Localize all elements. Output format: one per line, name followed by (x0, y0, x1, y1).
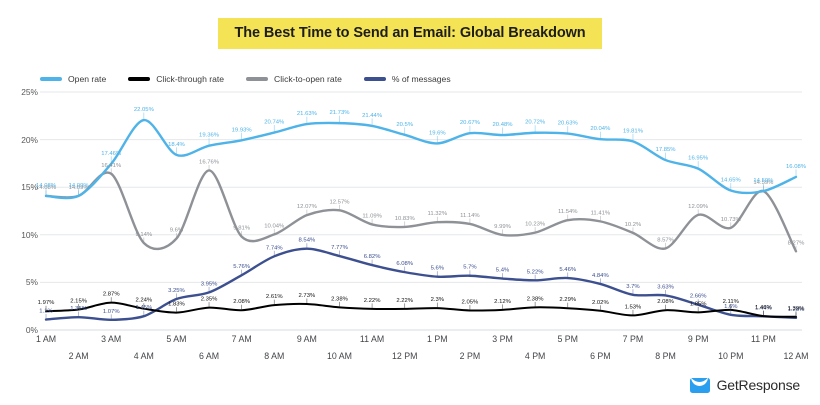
data-label: 20.5% (396, 122, 413, 128)
y-axis-labels: 0%5%10%15%20%25% (14, 92, 40, 330)
envelope-icon (690, 378, 710, 393)
data-label: 2.08% (657, 299, 674, 305)
legend-swatch-icon (128, 77, 150, 81)
data-label: 14.08% (36, 183, 57, 189)
data-label: 2.05% (462, 299, 479, 305)
data-label: 9.14% (135, 232, 152, 238)
legend-item-2[interactable]: Click-to-open rate (246, 74, 342, 84)
data-label: 5.7% (463, 265, 477, 271)
data-label: 1.39% (788, 306, 805, 312)
data-label: 20.74% (264, 120, 285, 126)
data-label: 9.6% (170, 228, 184, 234)
data-label: 19.81% (623, 128, 644, 134)
x-axis-tick-label: 9 PM (688, 334, 709, 344)
chart-legend: Open rateClick-through rateClick-to-open… (40, 74, 451, 84)
data-label: 17.46% (101, 151, 122, 157)
data-label: 22.05% (134, 107, 155, 113)
data-label: 7.74% (266, 245, 283, 251)
data-label: 5.4% (496, 268, 510, 274)
data-label: 16.08% (786, 164, 807, 170)
chart-title-container: The Best Time to Send an Email: Global B… (0, 18, 820, 49)
data-label: 20.48% (493, 122, 514, 128)
data-label: 1.1% (39, 309, 53, 315)
data-label: 2.38% (331, 296, 348, 302)
data-label: 11.32% (428, 211, 448, 217)
data-label: 7.77% (331, 245, 348, 251)
data-label: 2.02% (592, 300, 609, 306)
data-label: 11.54% (558, 209, 578, 215)
data-label: 18.4% (168, 142, 185, 148)
legend-label: % of messages (392, 74, 451, 84)
data-label: 14.65% (721, 178, 742, 184)
brand-name: GetResponse (717, 377, 800, 393)
x-axis-tick-label: 5 PM (557, 334, 578, 344)
data-label: 2.08% (233, 299, 250, 305)
data-label: 8.57% (657, 237, 674, 243)
data-label: 1.53% (625, 304, 642, 310)
x-axis-tick-label: 10 PM (718, 351, 743, 361)
data-label: 2.11% (723, 299, 740, 305)
data-label: 5.76% (233, 264, 250, 270)
x-axis-labels: 1 AM2 AM3 AM4 AM5 AM6 AM7 AM8 AM9 AM10 A… (40, 330, 802, 372)
x-axis-tick-label: 6 AM (199, 351, 219, 361)
data-label: 6.08% (396, 261, 413, 267)
data-label: 2.15% (70, 299, 87, 305)
x-axis-tick-label: 2 AM (69, 351, 89, 361)
data-label: 10.83% (395, 216, 416, 222)
data-label: 17.85% (656, 147, 677, 153)
legend-label: Click-to-open rate (274, 74, 342, 84)
data-label: 20.67% (460, 120, 481, 126)
data-label: 20.63% (558, 121, 579, 127)
data-label: 3.63% (657, 284, 674, 290)
page-title: The Best Time to Send an Email: Global B… (218, 18, 601, 49)
x-axis-tick-label: 1 PM (427, 334, 448, 344)
x-axis-tick-label: 4 AM (134, 351, 154, 361)
data-label: 3.7% (626, 284, 640, 290)
chart-svg: 14.08%14.09%16.41%9.14%9.6%16.76%9.81%10… (40, 92, 802, 330)
data-label: 6.82% (364, 254, 381, 260)
data-label: 16.95% (688, 156, 709, 162)
data-label: 9.99% (494, 224, 511, 230)
y-axis-tick-label: 25% (21, 87, 38, 97)
legend-label: Click-through rate (156, 74, 224, 84)
x-axis-tick-label: 11 AM (360, 334, 384, 344)
data-label: 10.2% (625, 222, 642, 228)
data-label: 3.95% (201, 281, 218, 287)
data-label: 21.44% (362, 113, 383, 119)
x-axis-tick-label: 5 AM (166, 334, 186, 344)
x-axis-tick-label: 12 PM (392, 351, 417, 361)
data-label: 11.09% (362, 213, 382, 219)
x-axis-tick-label: 1 AM (36, 334, 56, 344)
data-label: 1.45% (135, 305, 152, 311)
data-label: 21.63% (297, 111, 318, 117)
data-label: 2.22% (364, 298, 381, 304)
data-label: 2.29% (559, 297, 576, 303)
data-label: 19.93% (232, 127, 253, 133)
x-axis-tick-label: 6 PM (590, 351, 611, 361)
data-label: 8.27% (788, 240, 805, 246)
data-label: 14.09% (69, 183, 90, 189)
x-axis-tick-label: 8 AM (264, 351, 284, 361)
data-label: 21.73% (329, 110, 350, 116)
data-label: 12.57% (329, 199, 350, 205)
data-label: 14.59% (753, 178, 774, 184)
y-axis-tick-label: 10% (21, 230, 38, 240)
data-label: 2.38% (527, 296, 544, 302)
data-label: 2.22% (396, 298, 413, 304)
data-label: 1.83% (168, 302, 185, 308)
data-label: 10.73% (721, 217, 742, 223)
data-label: 1.46% (755, 305, 772, 311)
data-label: 20.04% (590, 126, 611, 132)
x-axis-tick-label: 3 PM (492, 334, 513, 344)
y-axis-tick-label: 5% (26, 277, 38, 287)
data-label: 2.66% (690, 294, 707, 300)
data-label: 10.23% (525, 222, 546, 228)
data-label: 2.3% (431, 297, 445, 303)
data-label: 1.07% (103, 309, 120, 315)
data-label: 16.76% (199, 159, 220, 165)
chart-page: The Best Time to Send an Email: Global B… (0, 0, 820, 405)
plot-area: 14.08%14.09%16.41%9.14%9.6%16.76%9.81%10… (40, 92, 802, 330)
data-label: 2.61% (266, 294, 283, 300)
data-label: 10.04% (264, 223, 285, 229)
data-label: 12.07% (297, 204, 318, 210)
data-label: 16.41% (101, 163, 122, 169)
series-line (46, 120, 796, 198)
data-label: 11.14% (460, 213, 480, 219)
brand-footer: GetResponse (690, 377, 800, 393)
legend-swatch-icon (364, 77, 386, 81)
legend-item-0[interactable]: Open rate (40, 74, 106, 84)
series-open-rate (46, 120, 796, 198)
legend-item-1[interactable]: Click-through rate (128, 74, 224, 84)
series-labels: 14.08%14.09%17.46%22.05%18.4%19.36%19.93… (36, 107, 807, 195)
legend-label: Open rate (68, 74, 106, 84)
data-label: 1.35% (70, 306, 87, 312)
data-label: 2.12% (494, 299, 511, 305)
x-axis-tick-label: 7 AM (232, 334, 252, 344)
data-label: 11.41% (591, 210, 611, 216)
series-labels: 14.08%14.09%16.41%9.14%9.6%16.76%9.81%10… (36, 159, 805, 250)
legend-item-3[interactable]: % of messages (364, 74, 451, 84)
data-label: 8.54% (299, 238, 316, 244)
data-label: 12.09% (688, 204, 709, 210)
legend-swatch-icon (246, 77, 268, 81)
x-axis-tick-label: 8 PM (655, 351, 676, 361)
data-label: 2.87% (103, 292, 120, 298)
x-axis-tick-label: 3 AM (101, 334, 121, 344)
series-line (46, 170, 796, 251)
data-label: 5.6% (431, 266, 445, 272)
data-label: 9.81% (233, 226, 250, 232)
x-axis-tick-label: 2 PM (460, 351, 481, 361)
x-axis-tick-label: 7 PM (623, 334, 644, 344)
data-label: 19.6% (429, 130, 446, 136)
data-label: 19.36% (199, 133, 220, 139)
data-label: 20.72% (525, 120, 546, 126)
x-axis-tick-label: 10 AM (327, 351, 352, 361)
data-label: 1.97% (38, 300, 55, 306)
data-label: 2.24% (135, 298, 152, 304)
x-axis-tick-label: 9 AM (297, 334, 317, 344)
x-axis-tick-label: 12 AM (784, 351, 809, 361)
legend-swatch-icon (40, 77, 62, 81)
data-label: 2.35% (201, 297, 218, 303)
y-axis-tick-label: 20% (21, 135, 38, 145)
data-label: 5.46% (559, 267, 576, 273)
data-label: 3.25% (168, 288, 185, 294)
data-label: 1.85% (690, 301, 707, 307)
data-label: 2.73% (299, 293, 316, 299)
data-label: 4.84% (592, 273, 609, 279)
series-click-to-open-rate (46, 170, 796, 251)
data-label: 5.22% (527, 269, 544, 275)
x-axis-tick-label: 4 PM (525, 351, 546, 361)
x-axis-tick-label: 11 PM (751, 334, 776, 344)
